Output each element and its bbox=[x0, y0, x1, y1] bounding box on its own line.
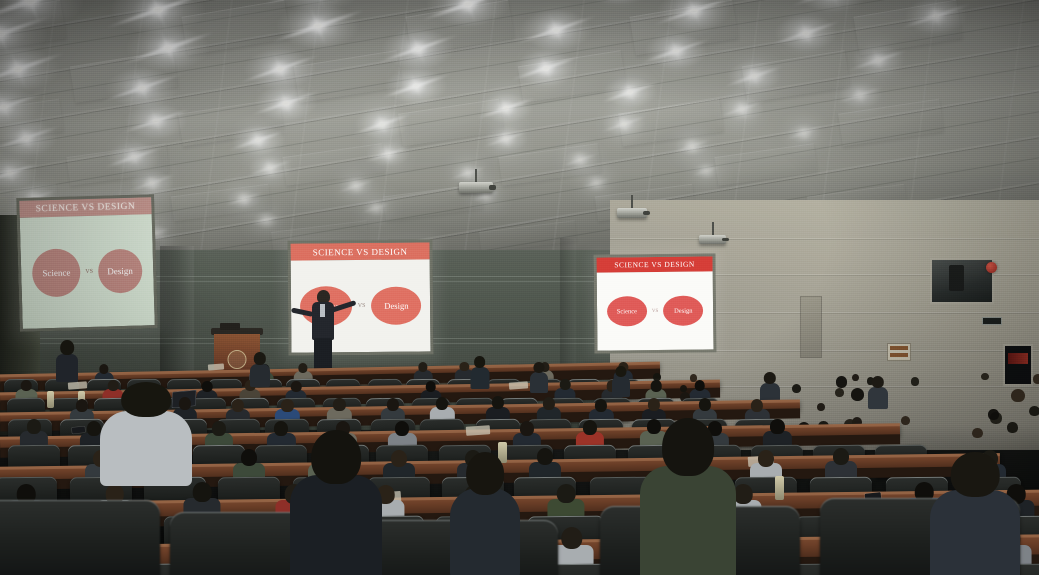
audience-member bbox=[56, 340, 78, 380]
ceiling-projector-1 bbox=[459, 182, 493, 193]
audience-member bbox=[911, 377, 920, 386]
audience-member bbox=[930, 452, 1020, 575]
audience-member bbox=[901, 416, 910, 425]
audience-member bbox=[836, 376, 847, 387]
audience-member bbox=[653, 373, 661, 381]
audience-member bbox=[981, 373, 988, 380]
audience-member bbox=[690, 374, 698, 382]
audience-member bbox=[792, 384, 801, 393]
ceiling-projector-2 bbox=[617, 208, 647, 218]
audience-member bbox=[868, 376, 888, 408]
audience-member bbox=[100, 382, 192, 480]
wall-sign bbox=[982, 317, 1002, 325]
audience-member bbox=[1029, 406, 1039, 417]
notebook-paper bbox=[68, 381, 87, 389]
right-projection-screen: SCIENCE VS DESIGN Science VS Design bbox=[593, 253, 716, 353]
audience-member bbox=[680, 385, 687, 392]
audience-member bbox=[851, 388, 864, 401]
side-door bbox=[800, 296, 822, 358]
water-bottle bbox=[775, 476, 784, 500]
auditorium-chair bbox=[0, 500, 160, 575]
institution-seal-icon bbox=[228, 350, 247, 369]
left-projection-screen: SCIENCE VS DESIGN Science VS Design bbox=[16, 194, 158, 332]
lecture-hall-photo: SCIENCE VS DESIGN Science VS Design SCIE… bbox=[0, 0, 1039, 575]
framed-wall-poster bbox=[1003, 344, 1033, 386]
notebook-paper bbox=[465, 425, 489, 436]
audience-member bbox=[250, 352, 270, 386]
audience-member bbox=[835, 388, 844, 397]
wall-plaque bbox=[887, 343, 911, 361]
audience-member bbox=[988, 409, 999, 420]
audience-member bbox=[852, 374, 859, 381]
water-bottle bbox=[47, 391, 54, 408]
audience-member bbox=[470, 356, 489, 388]
audience-member bbox=[1007, 422, 1018, 433]
audience-member bbox=[972, 428, 982, 438]
audience-member bbox=[640, 418, 736, 575]
ceiling-projector-3 bbox=[699, 235, 726, 244]
audience-member bbox=[1033, 374, 1039, 384]
audience-member bbox=[290, 430, 382, 575]
notebook-paper bbox=[509, 381, 528, 389]
notebook-paper bbox=[208, 363, 224, 370]
audience-member bbox=[1011, 389, 1024, 402]
left-pillar bbox=[160, 246, 194, 386]
wall-speaker-icon bbox=[949, 265, 965, 291]
fire-alarm-bell-icon bbox=[986, 262, 997, 273]
audience-member bbox=[612, 366, 630, 396]
audience-member bbox=[450, 452, 520, 572]
control-room-window bbox=[930, 258, 994, 304]
lectern-laptop bbox=[220, 323, 240, 330]
audience-member bbox=[530, 362, 548, 392]
